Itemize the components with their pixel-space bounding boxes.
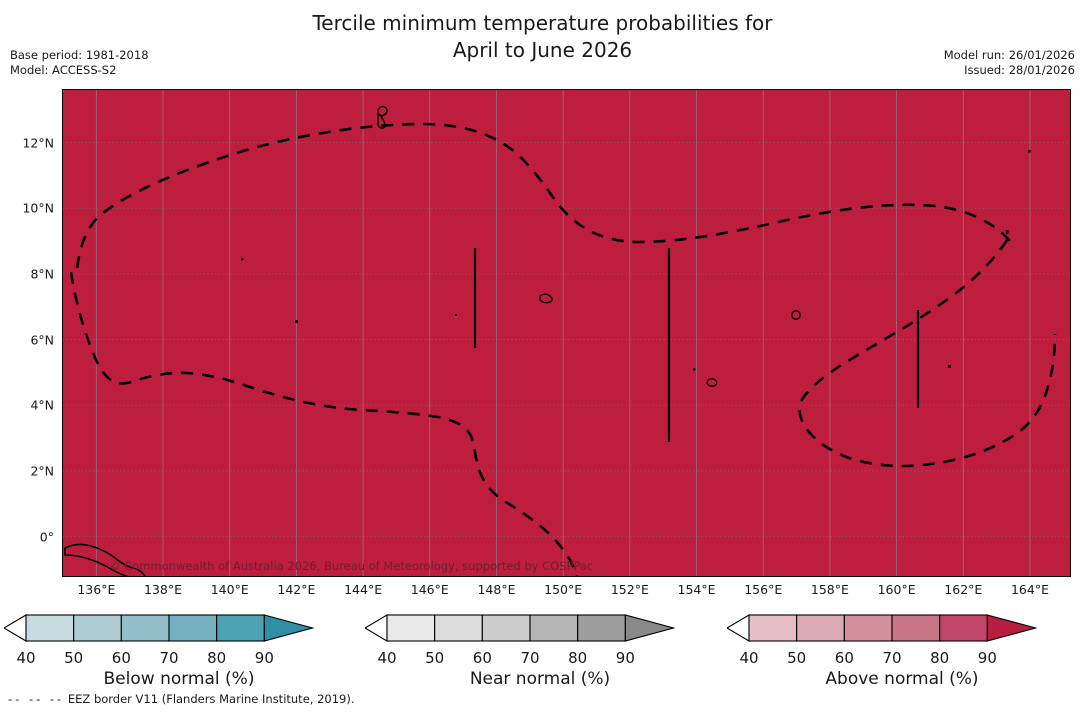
colorbar-over-arrow (987, 615, 1035, 641)
eez-footnote-text: EEZ border V11 (Flanders Marine Institut… (68, 692, 355, 706)
colorbar-swatch (121, 615, 169, 641)
x-tick-label: 142°E (277, 582, 315, 597)
eez-border-path-south (71, 272, 577, 576)
island-speck-f (1028, 150, 1031, 153)
colorbar-under-arrow (4, 615, 26, 641)
y-tick-label: 0° (40, 529, 54, 544)
colorbar-swatch (578, 615, 626, 641)
y-tick-label: 2°N (30, 463, 54, 478)
map-vector-layer (63, 90, 1070, 576)
y-tick-label: 10°N (22, 201, 54, 216)
island-outline-e (792, 311, 800, 319)
y-tick-label: 6°N (30, 332, 54, 347)
colorbar-tick-label: 40 (16, 649, 35, 667)
colorbar-under-arrow (727, 615, 749, 641)
x-tick-label: 150°E (544, 582, 582, 597)
page-title: Tercile minimum temperature probabilitie… (0, 10, 1085, 64)
colorbar-tick-label: 70 (159, 649, 178, 667)
eez-border-path-east (800, 240, 1055, 466)
y-tick-label: 4°N (30, 398, 54, 413)
x-tick-label: 154°E (678, 582, 716, 597)
map-gridlines-vertical (96, 90, 1030, 576)
colorbar-near-normal-ticks: 405060708090 (365, 649, 715, 669)
colorbar-tick-label: 60 (835, 649, 854, 667)
title-line-1: Tercile minimum temperature probabilitie… (312, 11, 772, 35)
colorbar-tick-label: 50 (64, 649, 83, 667)
colorbar-under-arrow (365, 615, 387, 641)
colorbar-swatch (217, 615, 265, 641)
x-axis-tick-labels: 136°E138°E140°E142°E144°E146°E148°E150°E… (62, 580, 1071, 602)
colorbar-tick-label: 90 (616, 649, 635, 667)
colorbar-swatch (482, 615, 530, 641)
island-speck-c (455, 314, 457, 316)
island-speck-d (693, 368, 695, 370)
colorbar-swatch (74, 615, 122, 641)
colorbar-tick-label: 70 (520, 649, 539, 667)
eez-border-path (77, 124, 1011, 268)
island-speck-e (948, 365, 951, 368)
colorbar-tick-label: 80 (207, 649, 226, 667)
model-text: Model: ACCESS-S2 (10, 63, 149, 78)
colorbar-over-arrow (625, 615, 673, 641)
colorbar-swatch (435, 615, 483, 641)
colorbar-tick-label: 90 (978, 649, 997, 667)
colorbar-over-arrow (264, 615, 312, 641)
colorbar-tick-label: 50 (787, 649, 806, 667)
colorbar-swatch (797, 615, 845, 641)
x-tick-label: 146°E (411, 582, 449, 597)
colorbar-swatch (387, 615, 435, 641)
colorbar-group: 405060708090 Below normal (%) 4050607080… (0, 605, 1085, 695)
x-tick-label: 148°E (477, 582, 515, 597)
island-speck-g (1006, 230, 1009, 234)
y-tick-label: 8°N (30, 266, 54, 281)
colorbar-below-normal-swatches (4, 611, 354, 651)
colorbar-swatch (26, 615, 74, 641)
y-tick-label: 12°N (22, 135, 54, 150)
colorbar-tick-label: 80 (568, 649, 587, 667)
colorbar-tick-label: 40 (377, 649, 396, 667)
map-plot-area[interactable]: © Commonwealth of Australia 2026, Bureau… (62, 89, 1071, 577)
colorbar-below-normal-caption: Below normal (%) (4, 669, 354, 689)
colorbar-tick-label: 50 (425, 649, 444, 667)
colorbar-below-normal[interactable]: 405060708090 Below normal (%) (4, 605, 354, 695)
colorbar-above-normal-caption: Above normal (%) (727, 669, 1077, 689)
colorbar-tick-label: 70 (882, 649, 901, 667)
colorbar-near-normal[interactable]: 405060708090 Near normal (%) (365, 605, 715, 695)
island-outline-mid (540, 294, 552, 302)
colorbar-tick-label: 80 (930, 649, 949, 667)
issued-text: Issued: 28/01/2026 (944, 63, 1075, 78)
colorbar-swatch (892, 615, 940, 641)
figure-canvas: Tercile minimum temperature probabilitie… (0, 0, 1085, 713)
model-run-text: Model run: 26/01/2026 (944, 48, 1075, 63)
x-tick-label: 136°E (77, 582, 115, 597)
colorbar-tick-label: 90 (255, 649, 274, 667)
x-tick-label: 164°E (1011, 582, 1049, 597)
eez-dash-sample: -- -- -- (8, 692, 64, 706)
title-line-2: April to June 2026 (0, 37, 1085, 64)
x-tick-label: 158°E (811, 582, 849, 597)
island-outline-png (65, 544, 145, 576)
colorbar-near-normal-swatches (365, 611, 715, 651)
eez-footnote: -- -- -- EEZ border V11 (Flanders Marine… (8, 692, 355, 706)
colorbar-above-normal-ticks: 405060708090 (727, 649, 1077, 669)
x-tick-label: 152°E (611, 582, 649, 597)
colorbar-swatch (169, 615, 217, 641)
meta-left-block: Base period: 1981-2018 Model: ACCESS-S2 (10, 48, 149, 78)
island-speck-b (241, 258, 243, 260)
x-tick-label: 144°E (344, 582, 382, 597)
colorbar-tick-label: 60 (112, 649, 131, 667)
colorbar-above-normal[interactable]: 405060708090 Above normal (%) (727, 605, 1077, 695)
x-tick-label: 156°E (744, 582, 782, 597)
colorbar-swatch (749, 615, 797, 641)
colorbar-above-normal-swatches (727, 611, 1077, 651)
x-tick-label: 160°E (878, 582, 916, 597)
colorbar-swatch (844, 615, 892, 641)
island-speck-a (295, 320, 298, 323)
x-tick-label: 140°E (211, 582, 249, 597)
base-period-text: Base period: 1981-2018 (10, 48, 149, 63)
meta-right-block: Model run: 26/01/2026 Issued: 28/01/2026 (944, 48, 1075, 78)
y-axis-tick-labels: 12°N10°N8°N6°N4°N2°N0° (0, 89, 58, 577)
island-outline-se (707, 379, 717, 386)
colorbar-near-normal-caption: Near normal (%) (365, 669, 715, 689)
colorbar-tick-label: 40 (739, 649, 758, 667)
colorbar-tick-label: 60 (473, 649, 492, 667)
x-tick-label: 138°E (144, 582, 182, 597)
colorbar-below-normal-ticks: 405060708090 (4, 649, 354, 669)
colorbar-swatch (940, 615, 988, 641)
x-tick-label: 162°E (944, 582, 982, 597)
colorbar-swatch (530, 615, 578, 641)
